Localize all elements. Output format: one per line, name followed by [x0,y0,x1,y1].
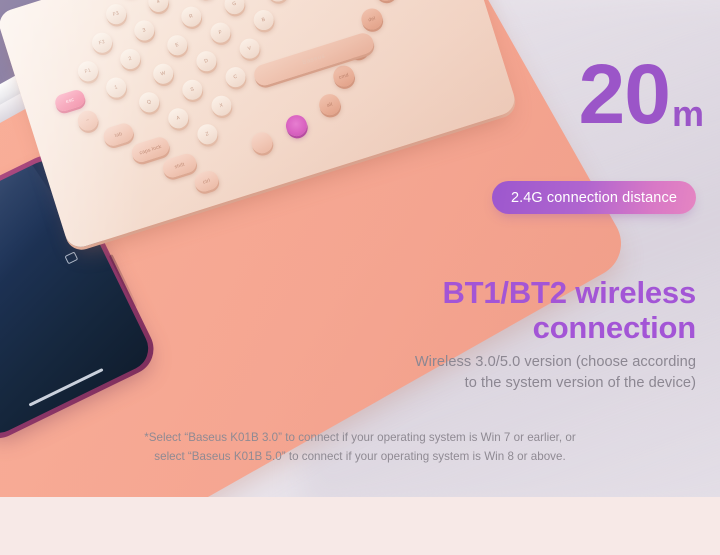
distance-unit: m [672,98,704,130]
footnote-line-1: *Select “Baseus K01B 3.0” to connect if … [144,431,576,444]
product-banner: esc~tabcaps lockshiftctrlF1F2F3F412345QW… [0,0,720,555]
distance-figure: 20 m [579,58,704,132]
footnote: *Select “Baseus K01B 3.0” to connect if … [0,428,720,467]
headline: BT1/BT2 wireless connection [176,275,696,345]
connection-distance-badge: 2.4G connection distance [492,181,696,214]
subtitle: Wireless 3.0/5.0 version (choose accordi… [176,352,696,393]
distance-value: 20 [579,58,670,132]
headline-line-2: connection [176,310,696,345]
subtitle-line-1: Wireless 3.0/5.0 version (choose accordi… [415,354,696,370]
subtitle-line-2: to the system version of the device) [176,373,696,394]
headline-line-1: BT1/BT2 wireless [442,275,696,310]
footnote-line-2: select “Baseus K01B 5.0” to connect if y… [0,447,720,466]
bottom-band [0,497,720,555]
